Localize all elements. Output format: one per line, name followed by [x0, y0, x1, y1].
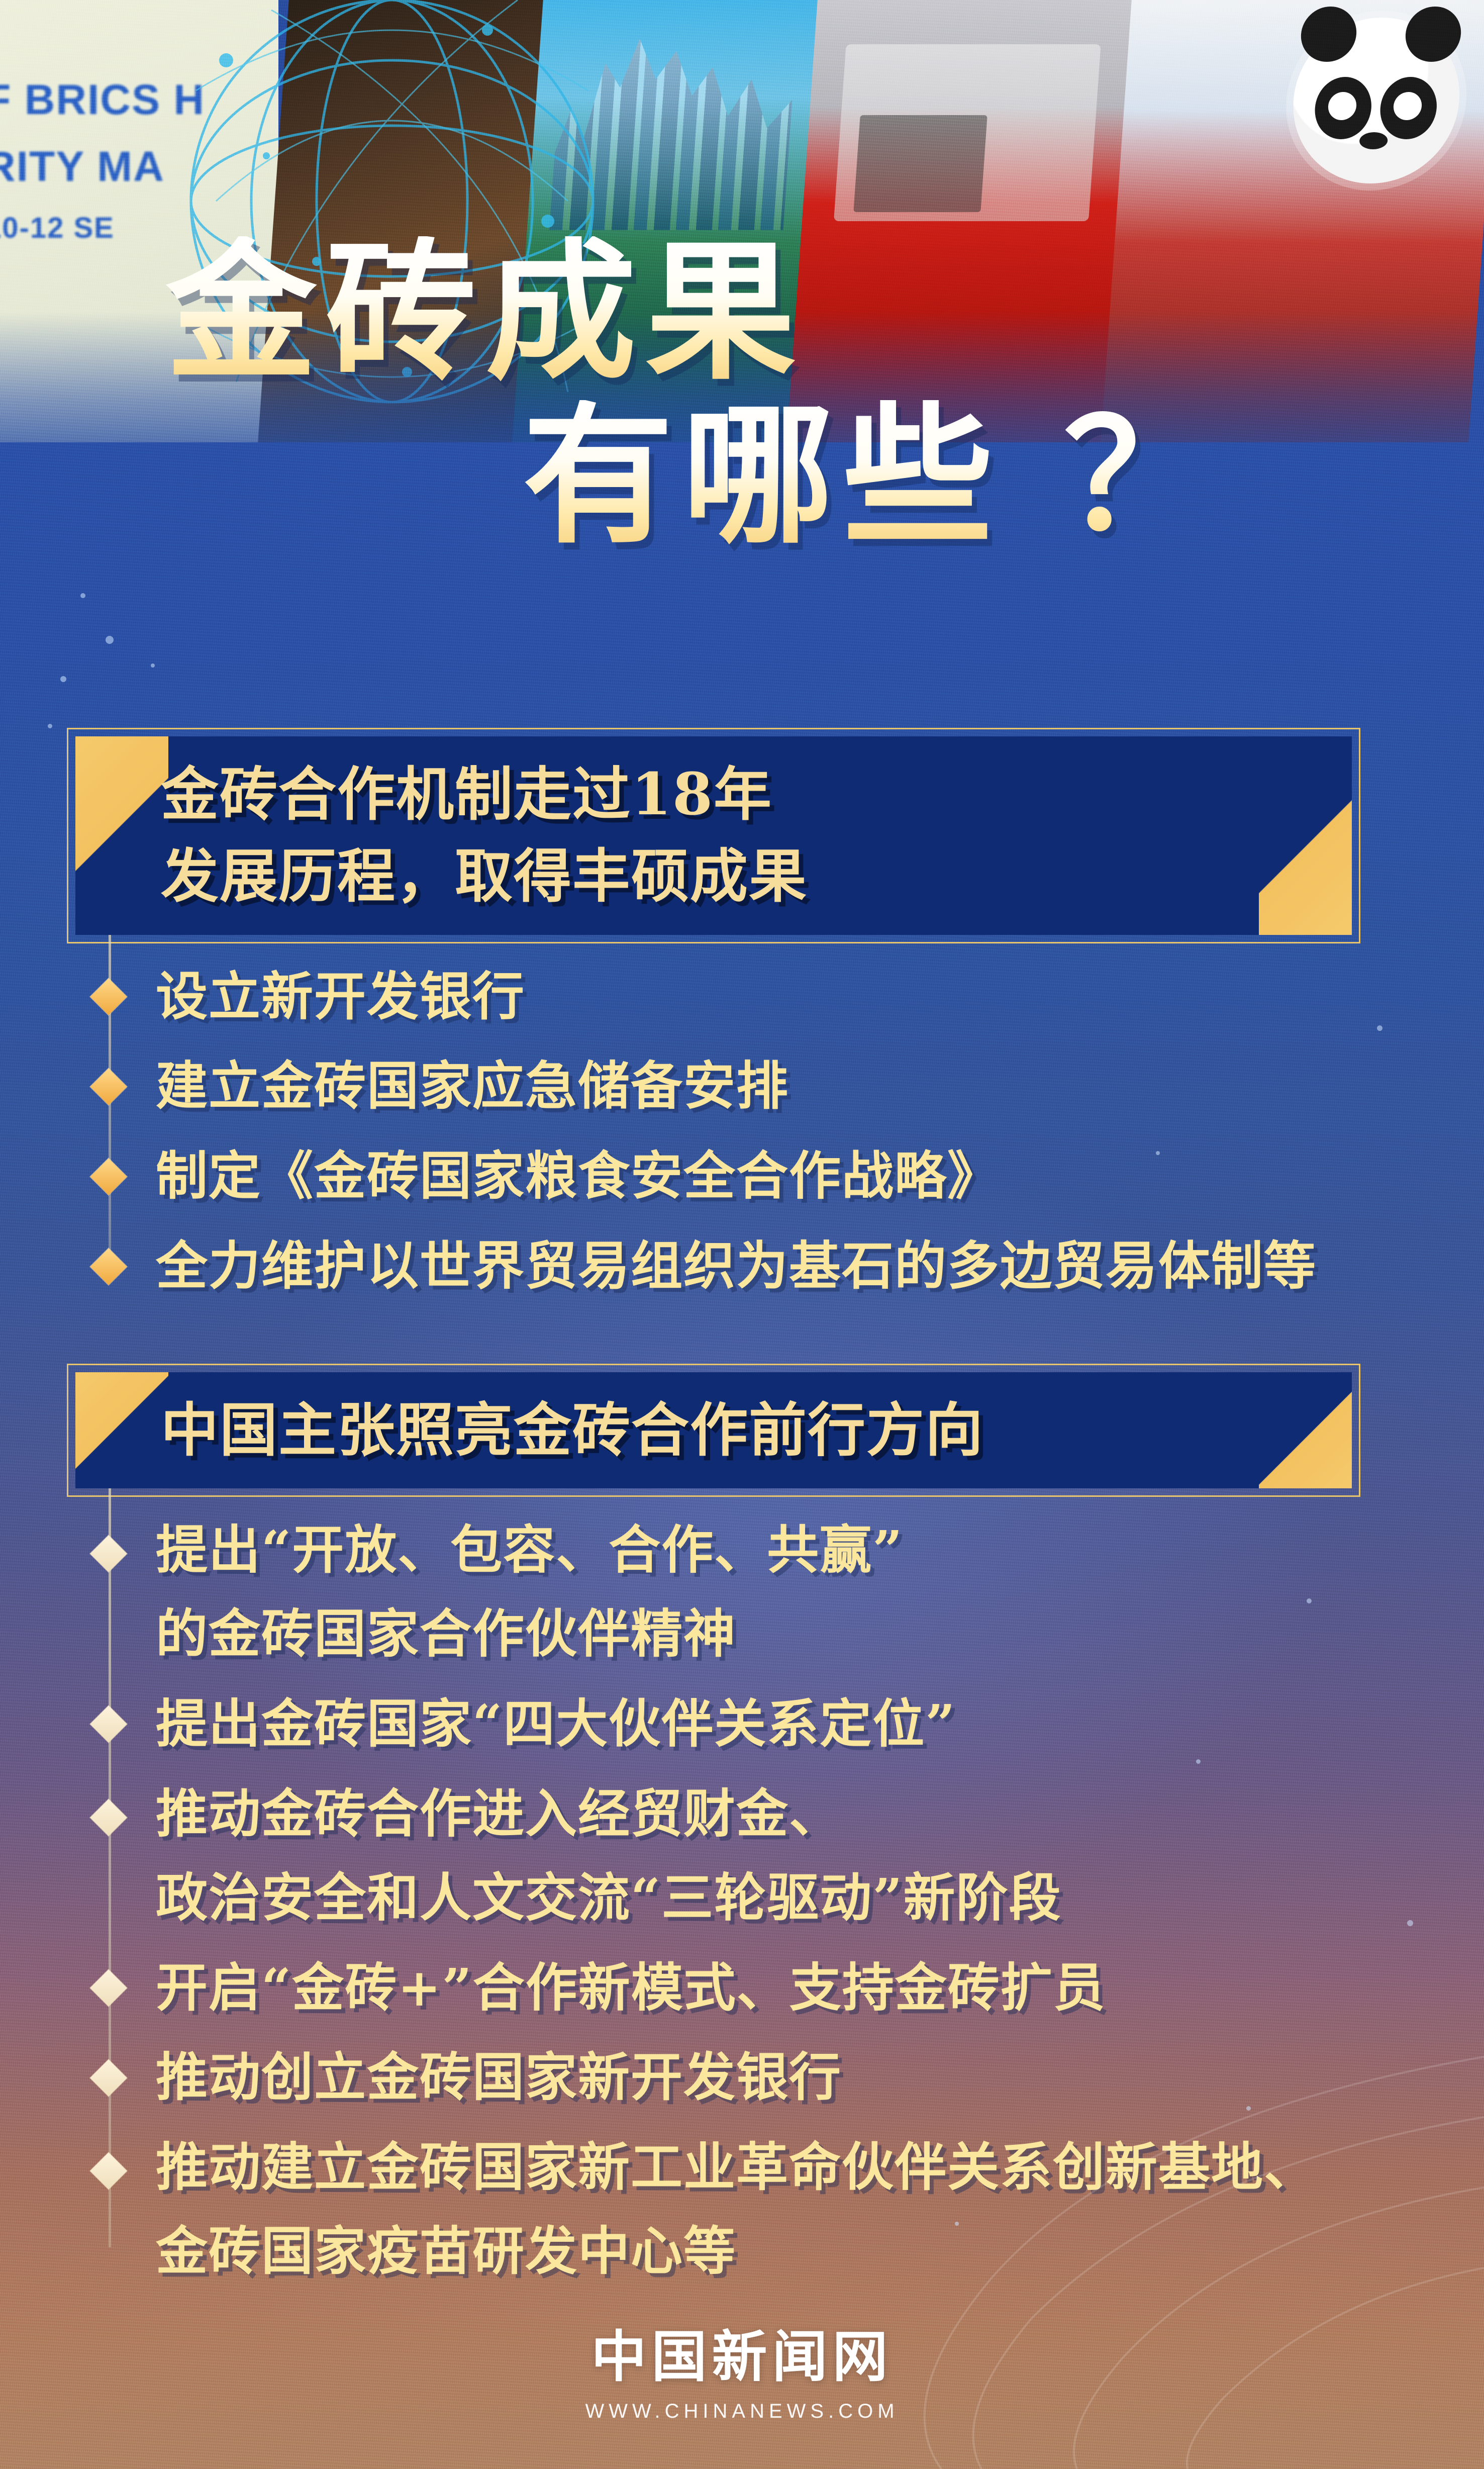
list-item: 开启“金砖+”合作新模式、支持金砖扩员 [90, 1946, 1447, 2030]
section-2: 中国主张照亮金砖合作前行方向 提出“开放、包容、合作、共赢” 的金砖国家合作伙伴… [0, 1372, 1484, 2300]
infographic-poster: F BRICS H RITY MA 10-12 SE [0, 0, 1484, 2469]
list-item: 提出金砖国家“四大伙伴关系定位” [90, 1682, 1447, 1766]
diamond-bullet-icon [90, 1536, 127, 1573]
list-item-text: 建立金砖国家应急储备安排 [156, 1044, 1447, 1128]
panda-ear-right [1404, 7, 1463, 62]
diamond-bullet-icon [90, 1068, 127, 1105]
section-2-header-line-1: 中国主张照亮金砖合作前行方向 [161, 1389, 1352, 1471]
panda-ear-left [1299, 7, 1358, 62]
panda-mascot-icon [1288, 18, 1465, 183]
list-item: 设立新开发银行 [90, 955, 1447, 1039]
chinanews-logo-text: 中国新闻网 [0, 2312, 1484, 2392]
corner-triangle-top-left [75, 1372, 168, 1488]
footer-logo-block: 中国新闻网 WWW.CHINANEWS.COM [0, 2312, 1484, 2423]
title-line-2: 有哪些 ？ [523, 400, 1484, 551]
list-item-text: 开启“金砖+”合作新模式、支持金砖扩员 [156, 1946, 1447, 2030]
booth-shape [834, 44, 1101, 221]
poster-title: 金砖成果 有哪些 ？ [0, 236, 1484, 551]
list-item-text: 推动建立金砖国家新工业革命伙伴关系创新基地、 [156, 2126, 1447, 2210]
list-item-text: 推动创立金砖国家新开发银行 [156, 2036, 1447, 2120]
list-item: 提出“开放、包容、合作、共赢” 的金砖国家合作伙伴精神 [90, 1508, 1447, 1676]
booth-screen-shape [854, 115, 988, 213]
diamond-bullet-icon [90, 1248, 127, 1285]
diamond-bullet-icon [90, 1799, 127, 1836]
diamond-bullet-icon [90, 1706, 127, 1743]
section-1-list: 设立新开发银行 建立金砖国家应急储备安排 制定《金砖国家粮食安全合作战略》 全力… [90, 935, 1447, 1308]
section-2-header: 中国主张照亮金砖合作前行方向 [75, 1372, 1352, 1488]
diamond-bullet-icon [90, 2059, 127, 2097]
list-item-text: 全力维护以世界贸易组织为基石的多边贸易体制等 [156, 1224, 1447, 1308]
list-item-text: 推动金砖合作进入经贸财金、 [156, 1772, 1447, 1856]
panda-nose [1359, 132, 1388, 149]
list-item-text: 提出金砖国家“四大伙伴关系定位” [156, 1682, 1447, 1766]
list-item-text-continued: 金砖国家疫苗研发中心等 [156, 2210, 1447, 2294]
section-1: 金砖合作机制走过18年 发展历程，取得丰硕成果 设立新开发银行 建立金砖国家应急… [0, 736, 1484, 1314]
section-1-header-line-2: 发展历程，取得丰硕成果 [161, 835, 1352, 917]
list-item-text: 提出“开放、包容、合作、共赢” [156, 1508, 1447, 1592]
section-1-header: 金砖合作机制走过18年 发展历程，取得丰硕成果 [75, 736, 1352, 935]
list-item-text-continued: 政治安全和人文交流“三轮驱动”新阶段 [156, 1856, 1447, 1940]
panda-eye-right [1378, 77, 1439, 139]
list-item-text: 设立新开发银行 [156, 955, 1447, 1039]
title-line-1: 金砖成果 [166, 236, 1484, 387]
list-item-text: 制定《金砖国家粮食安全合作战略》 [156, 1134, 1447, 1218]
section-2-list: 提出“开放、包容、合作、共赢” 的金砖国家合作伙伴精神 提出金砖国家“四大伙伴关… [90, 1488, 1447, 2294]
list-item: 推动创立金砖国家新开发银行 [90, 2036, 1447, 2120]
diamond-bullet-icon [90, 1969, 127, 2007]
diamond-bullet-icon [90, 1158, 127, 1195]
diamond-bullet-icon [90, 2153, 127, 2190]
corner-triangle-top-left [75, 736, 168, 935]
section-1-header-line-1: 金砖合作机制走过18年 [161, 753, 1352, 835]
list-item: 推动建立金砖国家新工业革命伙伴关系创新基地、 金砖国家疫苗研发中心等 [90, 2126, 1447, 2294]
chinanews-url: WWW.CHINANEWS.COM [0, 2400, 1484, 2423]
list-item-text-continued: 的金砖国家合作伙伴精神 [156, 1592, 1447, 1676]
panda-eye-left [1313, 77, 1373, 139]
list-item: 制定《金砖国家粮食安全合作战略》 [90, 1134, 1447, 1218]
diamond-bullet-icon [90, 978, 127, 1015]
list-item: 推动金砖合作进入经贸财金、 政治安全和人文交流“三轮驱动”新阶段 [90, 1772, 1447, 1940]
list-item: 建立金砖国家应急储备安排 [90, 1044, 1447, 1128]
list-item: 全力维护以世界贸易组织为基石的多边贸易体制等 [90, 1224, 1447, 1308]
